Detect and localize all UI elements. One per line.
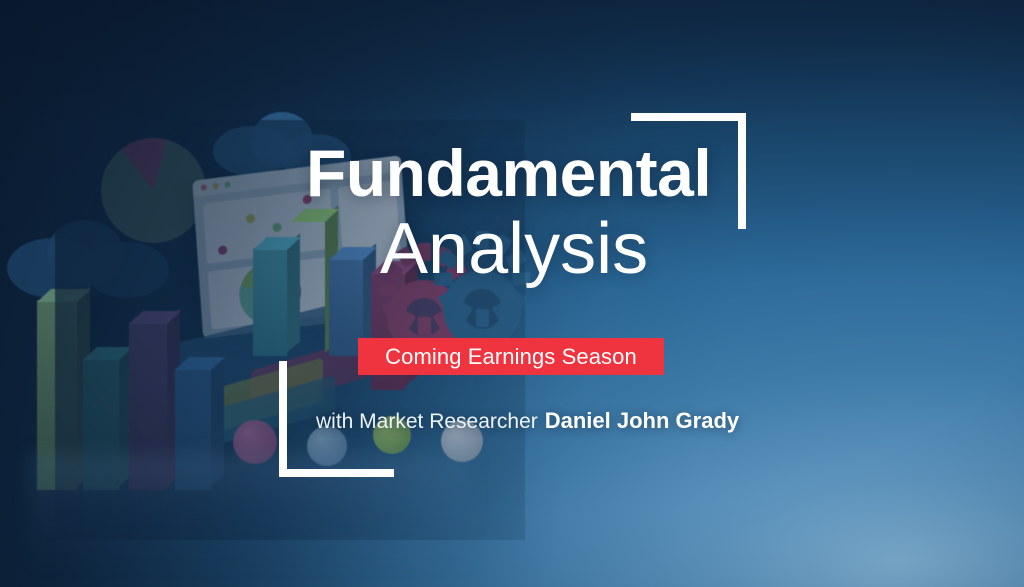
tagline-text: Coming Earnings Season [385, 344, 637, 370]
byline-prefix: with Market Researcher [316, 410, 538, 433]
corner-bracket-top-right-horizontal [631, 113, 746, 121]
corner-bracket-bottom-left-vertical [279, 361, 287, 477]
byline: with Market ResearcherDaniel John Grady [316, 408, 739, 434]
title-line-secondary: Analysis [380, 212, 711, 288]
tagline-banner: Coming Earnings Season [358, 338, 664, 375]
corner-bracket-bottom-left-horizontal [279, 469, 394, 477]
page-title: Fundamental Analysis [306, 140, 711, 288]
presentation-slide: Fundamental Analysis Coming Earnings Sea… [0, 0, 1024, 587]
background-vignette [0, 0, 1024, 587]
byline-presenter-name: Daniel John Grady [545, 408, 739, 433]
corner-bracket-top-right-vertical [738, 113, 746, 229]
title-line-primary: Fundamental [306, 140, 711, 206]
